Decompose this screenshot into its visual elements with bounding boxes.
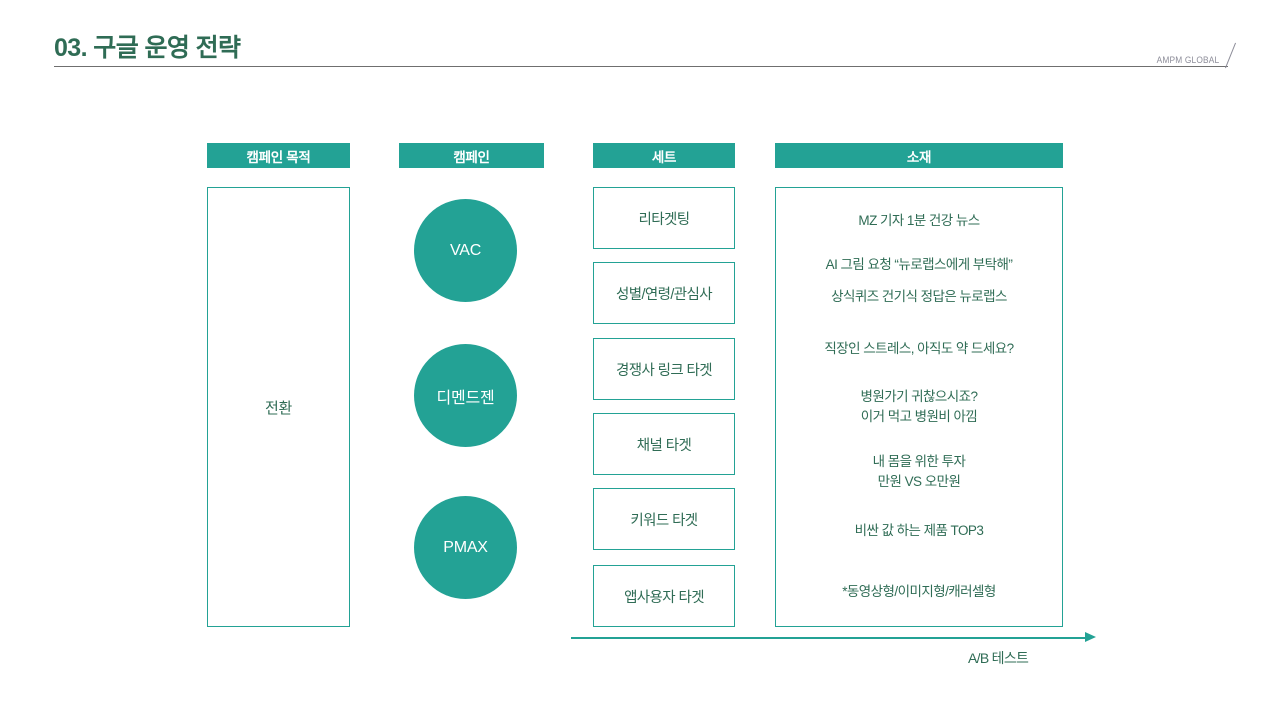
set-box: 채널 타겟 <box>593 413 735 475</box>
set-box: 경쟁사 링크 타겟 <box>593 338 735 400</box>
creative-item: 비싼 값 하는 제품 TOP3 <box>855 521 984 541</box>
column-header-set: 세트 <box>593 143 735 168</box>
creative-box: MZ 기자 1분 건강 뉴스 AI 그림 요청 “뉴로랩스에게 부탁해” 상식퀴… <box>775 187 1063 627</box>
creative-item: 직장인 스트레스, 아직도 약 드세요? <box>824 339 1013 359</box>
strategy-diagram: 캠페인 목적 캠페인 세트 소재 전환 VAC 디멘드젠 PMAX 리타겟팅 성… <box>0 0 1280 720</box>
set-label: 성별/연령/관심사 <box>616 283 712 304</box>
set-label: 앱사용자 타겟 <box>624 586 704 607</box>
campaign-circle-demandgen: 디멘드젠 <box>414 344 517 447</box>
creative-item: AI 그림 요청 “뉴로랩스에게 부탁해” <box>826 255 1013 275</box>
arrow-right-icon <box>1085 632 1096 642</box>
set-label: 키워드 타겟 <box>630 509 697 530</box>
creative-format-note: *동영상형/이미지형/캐러셀형 <box>842 582 996 602</box>
creative-item: 내 몸을 위한 투자 만원 VS 오만원 <box>873 452 966 491</box>
set-box: 리타겟팅 <box>593 187 735 249</box>
creative-item: 병원가기 귀찮으시죠? 이거 먹고 병원비 아낌 <box>861 387 978 426</box>
set-box: 성별/연령/관심사 <box>593 262 735 324</box>
column-header-campaign: 캠페인 <box>399 143 544 168</box>
campaign-circle-pmax: PMAX <box>414 496 517 599</box>
set-box: 앱사용자 타겟 <box>593 565 735 627</box>
campaign-label: PMAX <box>443 539 488 557</box>
campaign-circle-vac: VAC <box>414 199 517 302</box>
flow-arrow-label: A/B 테스트 <box>968 648 1028 668</box>
campaign-label: VAC <box>450 242 481 260</box>
column-header-creative: 소재 <box>775 143 1063 168</box>
set-label: 채널 타겟 <box>637 434 691 455</box>
creative-item: 상식퀴즈 건기식 정답은 뉴로랩스 <box>831 287 1007 307</box>
set-box: 키워드 타겟 <box>593 488 735 550</box>
set-label: 리타겟팅 <box>639 208 690 229</box>
objective-label: 전환 <box>265 397 292 418</box>
flow-arrow-line <box>571 637 1091 639</box>
campaign-label: 디멘드젠 <box>436 384 494 408</box>
column-header-objective: 캠페인 목적 <box>207 143 350 168</box>
creative-item: MZ 기자 1분 건강 뉴스 <box>858 211 979 231</box>
set-label: 경쟁사 링크 타겟 <box>616 359 712 380</box>
objective-box: 전환 <box>207 187 350 627</box>
